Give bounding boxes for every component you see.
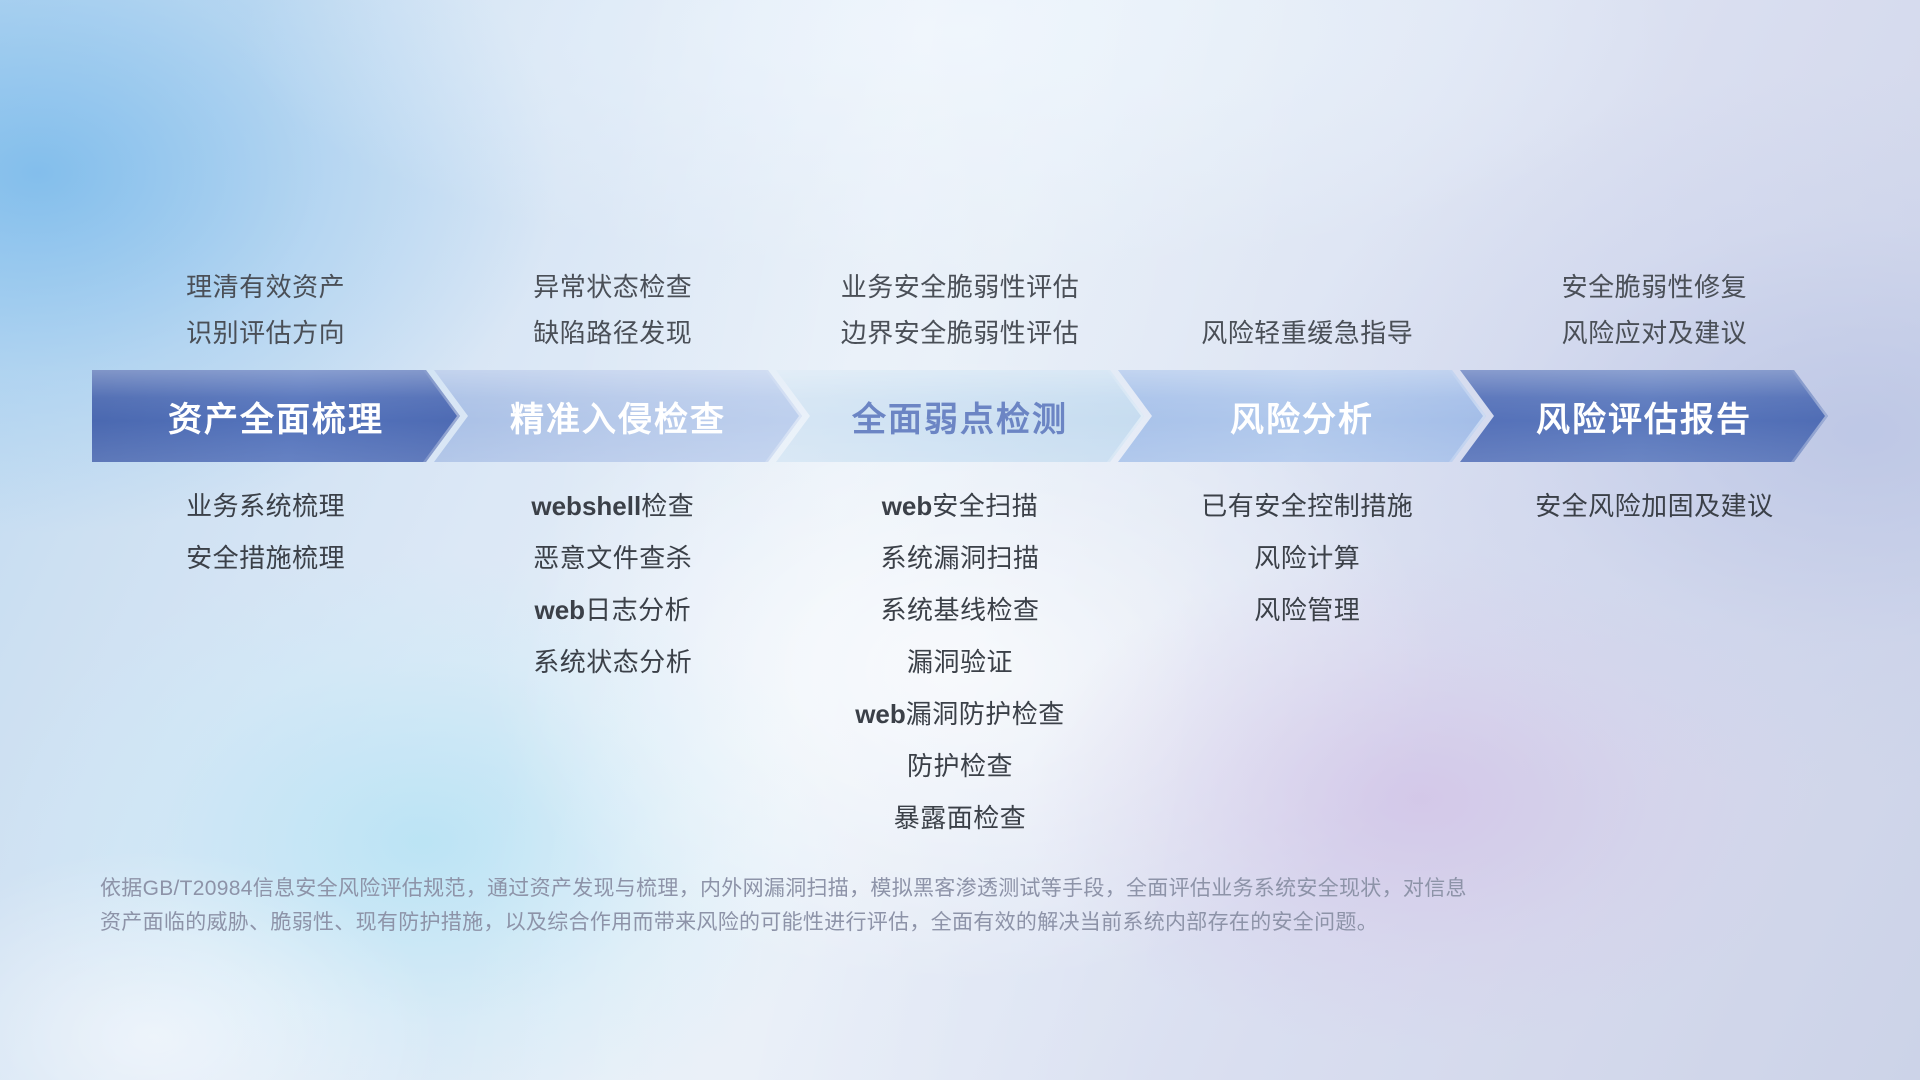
stage-chevron-risk-analysis[interactable]: 风险分析 — [1118, 370, 1486, 462]
footer-description: 依据GB/T20984信息安全风险评估规范，通过资产发现与梳理，内外网漏洞扫描，… — [100, 872, 1620, 940]
detail-item: 系统漏洞扫描 — [786, 532, 1133, 584]
detail-item: web日志分析 — [439, 584, 786, 636]
detail-item-text: 防护检查 — [907, 751, 1013, 781]
detail-item: 漏洞验证 — [786, 636, 1133, 688]
detail-item-text: 日志分析 — [585, 595, 691, 625]
top-note: 风险轻重缓急指导 — [1134, 310, 1481, 356]
detail-item-text: 安全扫描 — [932, 491, 1038, 521]
stage-title: 风险评估报告 — [1536, 392, 1752, 441]
detail-item-text: 业务系统梳理 — [186, 491, 345, 521]
stage-details-row: 业务系统梳理 安全措施梳理 webshell检查 恶意文件查杀 web日志分析 … — [92, 480, 1828, 844]
stage-title: 风险分析 — [1230, 392, 1374, 441]
detail-item: webshell检查 — [439, 480, 786, 532]
top-note: 风险应对及建议 — [1481, 310, 1828, 356]
detail-item: web漏洞防护检查 — [786, 688, 1133, 740]
detail-item-text: 风险计算 — [1254, 543, 1360, 573]
detail-item: web安全扫描 — [786, 480, 1133, 532]
top-note: 理清有效资产 — [92, 264, 439, 310]
details-risk-report: 安全风险加固及建议 — [1481, 480, 1828, 532]
detail-item: 系统状态分析 — [439, 636, 786, 688]
detail-item: 安全措施梳理 — [92, 532, 439, 584]
detail-item: 防护检查 — [786, 740, 1133, 792]
top-notes-asset-inventory: 理清有效资产 识别评估方向 — [92, 264, 439, 356]
detail-item: 暴露面检查 — [786, 792, 1133, 844]
stage-title: 精准入侵检查 — [510, 392, 726, 441]
stage-chevron-asset-inventory[interactable]: 资产全面梳理 — [92, 370, 460, 462]
detail-item: 恶意文件查杀 — [439, 532, 786, 584]
top-note: 业务安全脆弱性评估 — [786, 264, 1133, 310]
stage-title: 资产全面梳理 — [168, 392, 384, 441]
detail-item-text: 漏洞防护检查 — [906, 699, 1065, 729]
details-weakness-detection: web安全扫描 系统漏洞扫描 系统基线检查 漏洞验证 web漏洞防护检查 防护检… — [786, 480, 1133, 844]
top-notes-intrusion-check: 异常状态检查 缺陷路径发现 — [439, 264, 786, 356]
detail-item: 风险计算 — [1134, 532, 1481, 584]
stage-title: 全面弱点检测 — [852, 392, 1068, 441]
details-intrusion-check: webshell检查 恶意文件查杀 web日志分析 系统状态分析 — [439, 480, 786, 688]
top-notes-risk-report: 安全脆弱性修复 风险应对及建议 — [1481, 264, 1828, 356]
detail-item-text: 风险管理 — [1254, 595, 1360, 625]
top-notes-risk-analysis: 风险轻重缓急指导 — [1134, 310, 1481, 356]
detail-item-lead: web — [882, 491, 933, 521]
top-notes-weakness-detection: 业务安全脆弱性评估 边界安全脆弱性评估 — [786, 264, 1133, 356]
detail-item-text: 安全措施梳理 — [186, 543, 345, 573]
top-note: 安全脆弱性修复 — [1481, 264, 1828, 310]
stage-chevron-intrusion-check[interactable]: 精准入侵检查 — [434, 370, 802, 462]
detail-item: 系统基线检查 — [786, 584, 1133, 636]
footer-line-2: 资产面临的威胁、脆弱性、现有防护措施，以及综合作用而带来风险的可能性进行评估，全… — [100, 906, 1620, 940]
detail-item-text: 暴露面检查 — [894, 803, 1027, 833]
details-asset-inventory: 业务系统梳理 安全措施梳理 — [92, 480, 439, 584]
detail-item-lead: web — [855, 699, 906, 729]
footer-line-1: 依据GB/T20984信息安全风险评估规范，通过资产发现与梳理，内外网漏洞扫描，… — [100, 872, 1620, 906]
detail-item-text: 恶意文件查杀 — [533, 543, 692, 573]
detail-item-text: 漏洞验证 — [907, 647, 1013, 677]
detail-item-text: 安全风险加固及建议 — [1535, 491, 1774, 521]
detail-item-text: 已有安全控制措施 — [1201, 491, 1413, 521]
detail-item: 业务系统梳理 — [92, 480, 439, 532]
top-note: 边界安全脆弱性评估 — [786, 310, 1133, 356]
detail-item-text: 检查 — [641, 491, 694, 521]
detail-item-text: 系统基线检查 — [881, 595, 1040, 625]
detail-item-text: 系统状态分析 — [533, 647, 692, 677]
process-arrow-band: 资产全面梳理 精准入侵检查 全面弱点检测 风险分析 风险评估报告 — [92, 370, 1828, 462]
detail-item: 风险管理 — [1134, 584, 1481, 636]
details-risk-analysis: 已有安全控制措施 风险计算 风险管理 — [1134, 480, 1481, 636]
top-note: 异常状态检查 — [439, 264, 786, 310]
top-note: 识别评估方向 — [92, 310, 439, 356]
detail-item-text: 系统漏洞扫描 — [881, 543, 1040, 573]
top-notes-row: 理清有效资产 识别评估方向 异常状态检查 缺陷路径发现 业务安全脆弱性评估 边界… — [92, 228, 1828, 356]
detail-item-lead: web — [535, 595, 586, 625]
infographic-canvas: 理清有效资产 识别评估方向 异常状态检查 缺陷路径发现 业务安全脆弱性评估 边界… — [0, 0, 1920, 1080]
top-note: 缺陷路径发现 — [439, 310, 786, 356]
detail-item: 已有安全控制措施 — [1134, 480, 1481, 532]
stage-chevron-weakness-detection[interactable]: 全面弱点检测 — [776, 370, 1144, 462]
detail-item: 安全风险加固及建议 — [1481, 480, 1828, 532]
detail-item-lead: webshell — [531, 491, 641, 521]
stage-chevron-risk-report[interactable]: 风险评估报告 — [1460, 370, 1828, 462]
